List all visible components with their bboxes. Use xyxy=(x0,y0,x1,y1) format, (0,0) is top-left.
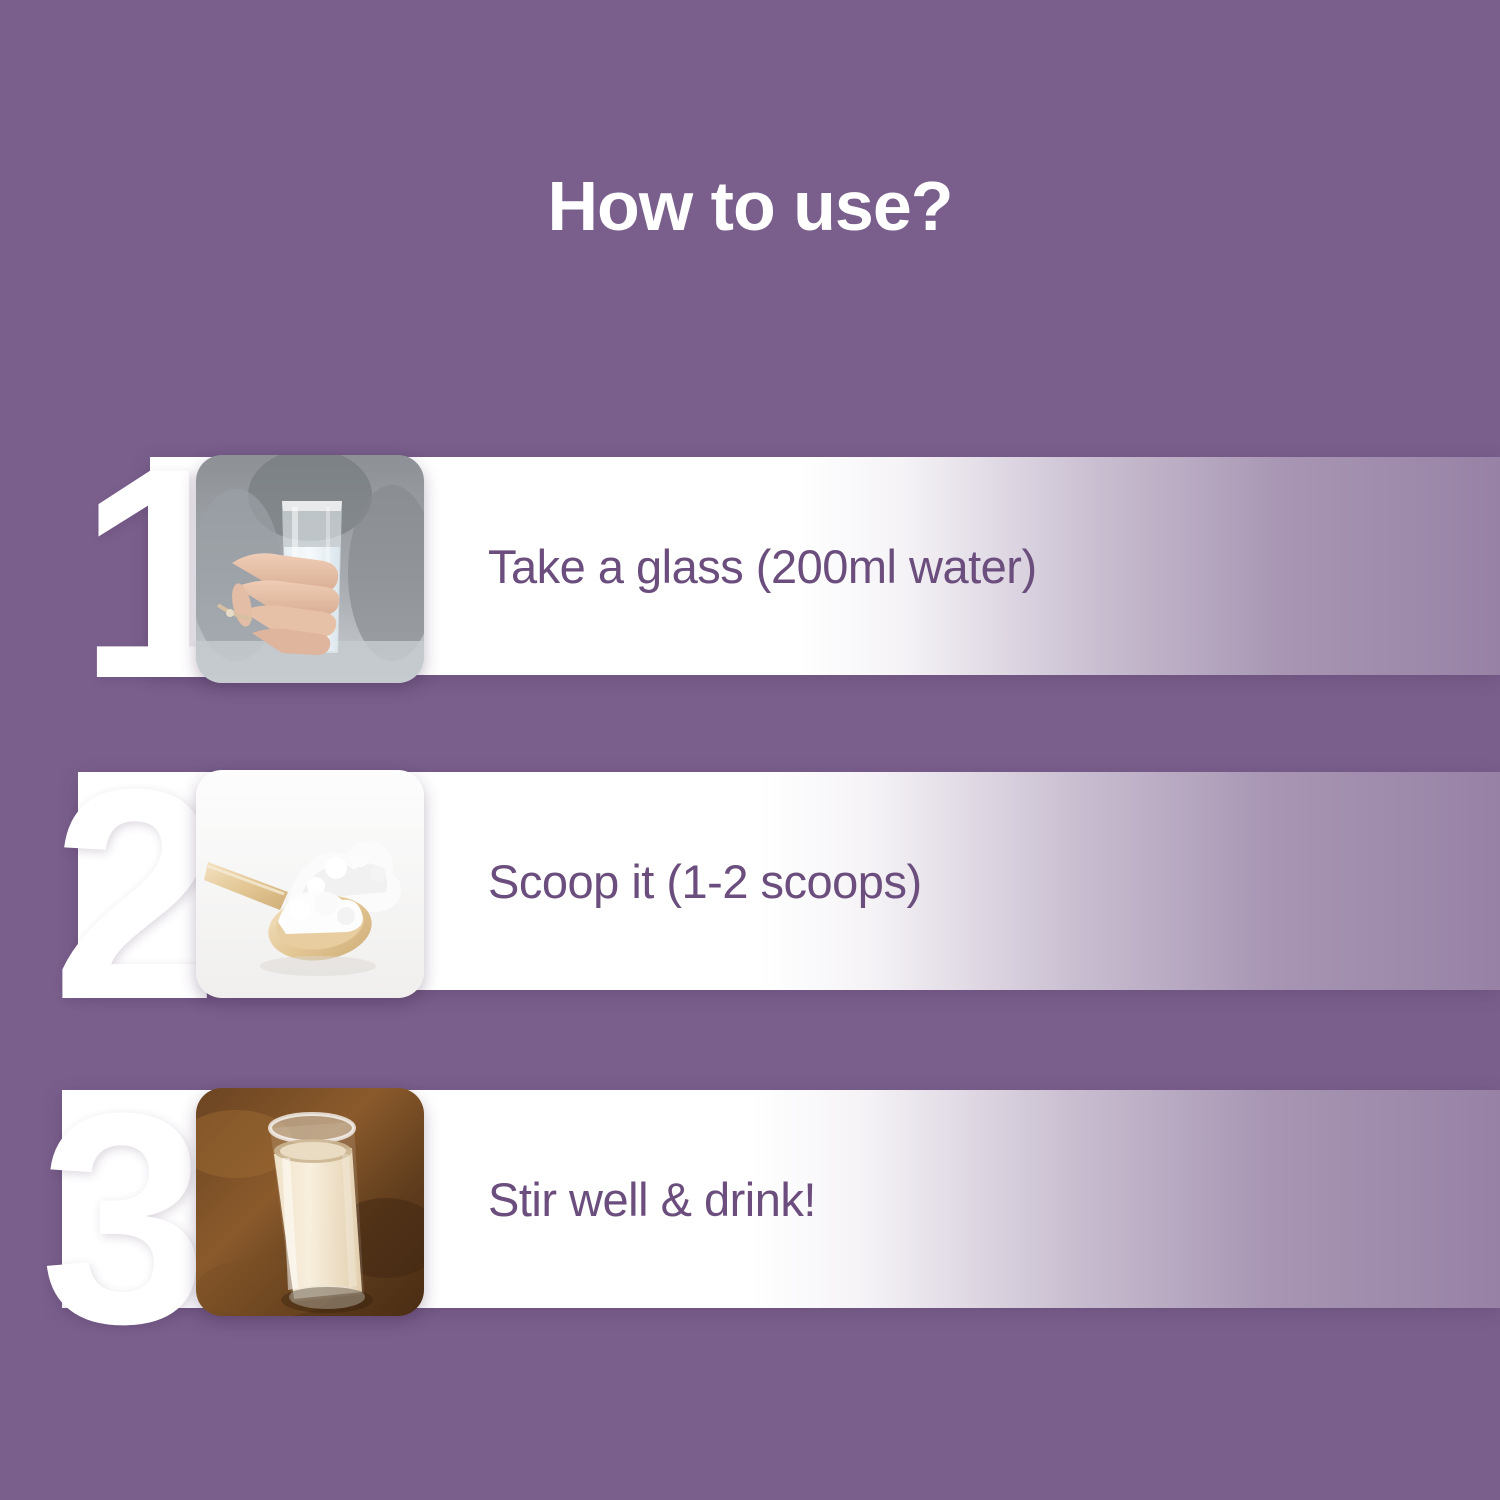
glass-of-milky-drink-photo xyxy=(196,1088,424,1316)
step-1-image xyxy=(196,455,424,683)
step-row-3: 3 xyxy=(0,1078,1500,1318)
step-3-image xyxy=(196,1088,424,1316)
page-title: How to use? xyxy=(0,168,1500,245)
hand-holding-glass-of-water-photo xyxy=(196,455,424,683)
how-to-use-infographic: How to use? 1 xyxy=(0,0,1500,1500)
step-1-caption: Take a glass (200ml water) xyxy=(488,457,1037,675)
step-2-number: 2 xyxy=(52,744,209,1044)
step-3-number: 3 xyxy=(40,1068,197,1368)
wooden-spoon-with-white-powder-photo xyxy=(196,770,424,998)
step-3-caption: Stir well & drink! xyxy=(488,1090,816,1308)
step-row-2: 2 xyxy=(0,760,1500,1000)
step-2-image xyxy=(196,770,424,998)
step-2-caption: Scoop it (1-2 scoops) xyxy=(488,772,922,990)
step-row-1: 1 xyxy=(0,445,1500,685)
